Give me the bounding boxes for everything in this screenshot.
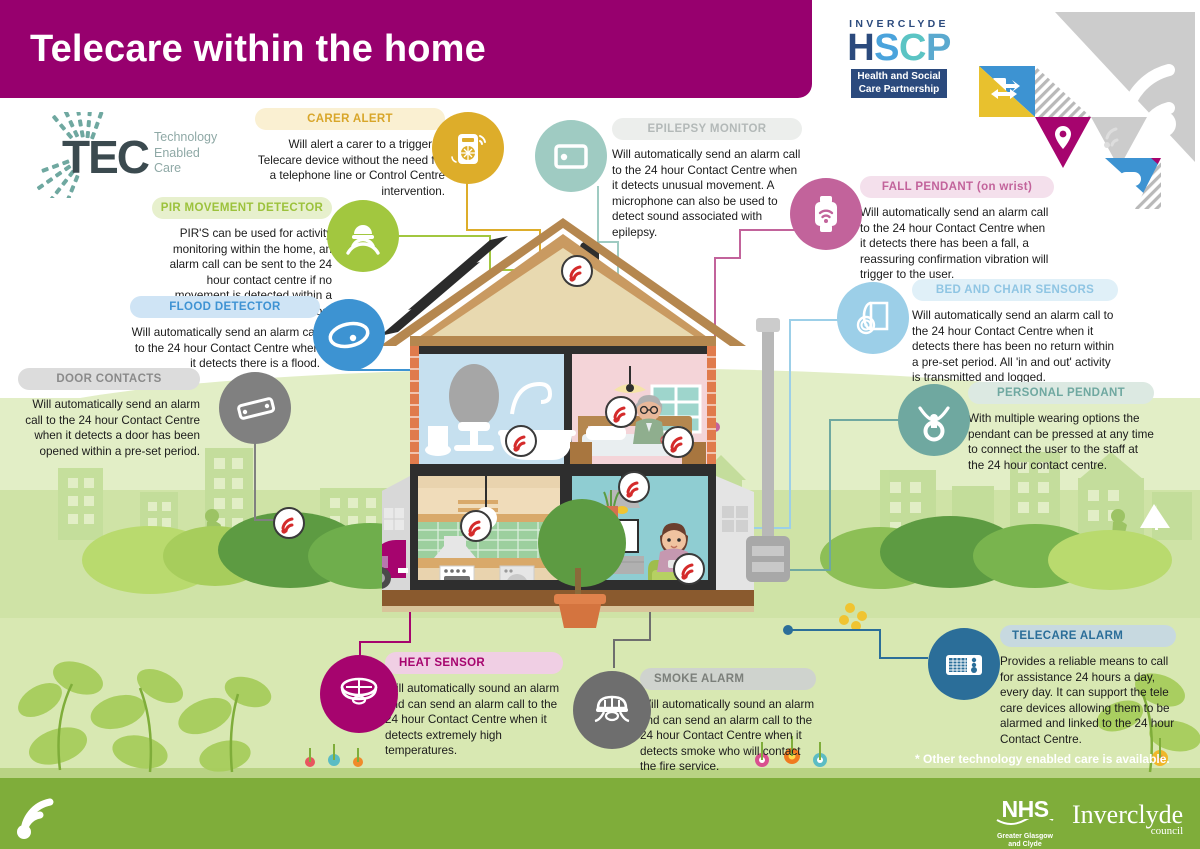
callout-epilepsy-title: EPILEPSY MONITOR <box>612 118 802 140</box>
callout-fall-pendant-title: FALL PENDANT (on wrist) <box>860 176 1054 198</box>
callout-heat-sensor-body: Will automatically sound an alarm and ca… <box>385 674 563 759</box>
tec-line-1: Technology <box>154 130 217 146</box>
tec-wifi-wave-icon <box>14 792 68 840</box>
callout-flood-title: FLOOD DETECTOR <box>130 296 320 318</box>
nhs-logo: NHS Greater Glasgow and Clyde <box>985 798 1065 849</box>
footnote-text: * Other technology enabled care is avail… <box>915 752 1175 766</box>
tec-line-2: Enabled <box>154 146 217 162</box>
hscp-logo: INVERCLYDE HSCP Health and Social Care P… <box>824 18 974 98</box>
hscp-logo-letters: HSCP <box>824 30 974 66</box>
personal-pendant-icon <box>898 384 970 456</box>
tec-logo-wordmark: Technology Enabled Care <box>154 130 217 177</box>
callout-fall-pendant-body: Will automatically send an alarm call to… <box>860 198 1054 283</box>
bed-mat-roll-icon <box>837 282 909 354</box>
nhs-sub-line1: Greater Glasgow <box>985 833 1065 841</box>
wifi-puck-armchair <box>672 552 706 586</box>
callout-personal-pendant[interactable]: PERSONAL PENDANT With multiple wearing o… <box>968 382 1154 473</box>
infographic-page: Telecare within the home INVERCLYDE HSCP… <box>0 0 1200 849</box>
nhs-logo-main: NHS <box>985 798 1065 821</box>
callout-heat-sensor-title: HEAT SENSOR <box>385 652 563 674</box>
hscp-subtitle-line1: Health and Social <box>857 71 940 84</box>
hscp-logo-subtitle: Health and Social Care Partnership <box>851 69 946 98</box>
callout-carer-alert[interactable]: CARER ALERT Will alert a carer to a trig… <box>255 108 445 199</box>
wifi-puck-door <box>272 506 306 540</box>
callout-bed-chair-body: Will automatically send an alarm call to… <box>912 301 1118 386</box>
callout-telecare-alarm[interactable]: TELECARE ALARM Provides a reliable means… <box>1000 625 1176 747</box>
callout-bed-chair-sensors[interactable]: BED AND CHAIR SENSORS Will automatically… <box>912 279 1118 386</box>
hatched-triangle-1 <box>1035 66 1091 117</box>
wrist-watch-pendant-icon <box>790 178 862 250</box>
monitor-pad-icon <box>535 120 607 192</box>
tec-logo: TEC Technology Enabled Care <box>24 112 214 198</box>
motion-sensor-icon <box>327 200 399 272</box>
page-title: Telecare within the home <box>30 28 486 71</box>
callout-heat-sensor[interactable]: HEAT SENSOR Will automatically sound an … <box>385 652 563 759</box>
nhs-sub-line2: and Clyde <box>985 841 1065 849</box>
callout-flood-detector[interactable]: FLOOD DETECTOR Will automatically send a… <box>130 296 320 372</box>
heat-detector-icon <box>320 655 398 733</box>
wifi-puck-bathroom <box>504 424 538 458</box>
callout-epilepsy-body: Will automatically send an alarm call to… <box>612 140 802 240</box>
callout-telecare-alarm-title: TELECARE ALARM <box>1000 625 1176 647</box>
hscp-subtitle-line2: Care Partnership <box>857 84 940 97</box>
callout-door-contacts[interactable]: DOOR CONTACTS Will automatically send an… <box>18 368 200 459</box>
callout-pir-title: PIR MOVEMENT DETECTOR <box>152 197 332 219</box>
callout-smoke-alarm-title: SMOKE ALARM <box>640 668 816 690</box>
smoke-alarm-icon <box>573 671 651 749</box>
water-drop-sensor-icon <box>313 299 385 371</box>
alarm-base-unit-icon <box>928 628 1000 700</box>
wifi-puck-bedroom <box>604 395 638 429</box>
callout-flood-body: Will automatically send an alarm call to… <box>130 318 320 372</box>
callout-door-body: Will automatically send an alarm call to… <box>18 390 200 459</box>
wifi-puck-kitchen <box>459 509 493 543</box>
callout-epilepsy-monitor[interactable]: EPILEPSY MONITOR Will automatically send… <box>612 118 802 240</box>
callout-door-title: DOOR CONTACTS <box>18 368 200 390</box>
callout-carer-alert-body: Will alert a carer to a triggered Teleca… <box>255 130 445 199</box>
callout-smoke-alarm-body: Will automatically sound an alarm and ca… <box>640 690 816 775</box>
callout-telecare-alarm-body: Provides a reliable means to call for as… <box>1000 647 1176 747</box>
callout-smoke-alarm[interactable]: SMOKE ALARM Will automatically sound an … <box>640 668 816 775</box>
inverclyde-council-logo: Inverclyde council <box>1072 802 1183 837</box>
callout-personal-pendant-title: PERSONAL PENDANT <box>968 382 1154 404</box>
callout-bed-chair-title: BED AND CHAIR SENSORS <box>912 279 1118 301</box>
callout-carer-alert-title: CARER ALERT <box>255 108 445 130</box>
door-contact-sensor-icon <box>219 372 291 444</box>
tec-logo-letters: TEC <box>62 130 148 184</box>
wifi-puck-living-room <box>617 470 651 504</box>
wifi-puck-bed-sensor <box>661 425 695 459</box>
callout-personal-pendant-body: With multiple wearing options the pendan… <box>968 404 1154 473</box>
callout-fall-pendant[interactable]: FALL PENDANT (on wrist) Will automatical… <box>860 176 1054 283</box>
wifi-puck-attic <box>560 254 594 288</box>
nhs-logo-sub: Greater Glasgow and Clyde <box>985 833 1065 849</box>
tec-line-3: Care <box>154 161 217 177</box>
pager-device-icon <box>432 112 504 184</box>
